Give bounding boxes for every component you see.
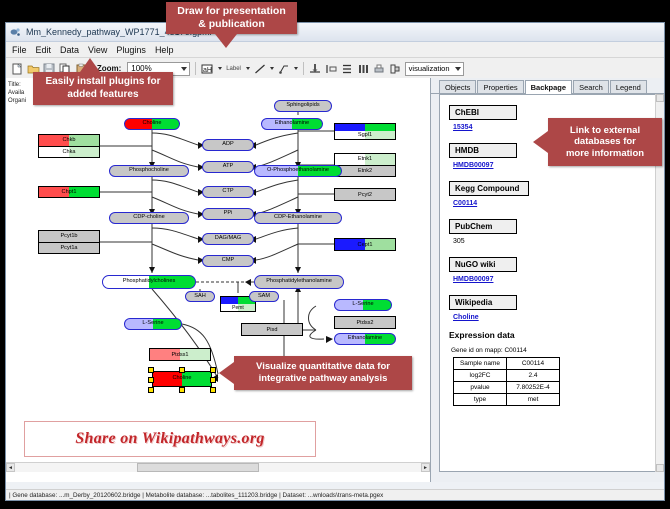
svg-text:aH: aH — [203, 67, 212, 74]
callout-draw-arrow-icon — [215, 34, 237, 48]
node-label: Phosphatidylethanolamine — [266, 279, 332, 285]
node-atp[interactable]: ATP — [202, 161, 254, 173]
gene-id-line: Gene id on mapp: C00114 — [451, 347, 646, 354]
cell-key: pvalue — [454, 382, 507, 394]
side-panel-tabs: Objects Properties Backpage Search Legen… — [431, 78, 664, 94]
scroll-down-icon[interactable] — [656, 464, 664, 472]
expression-data-title: Expression data — [449, 330, 646, 340]
node-label: ADP — [222, 142, 234, 148]
tab-backpage[interactable]: Backpage — [525, 80, 572, 94]
menu-data[interactable]: Data — [60, 45, 79, 55]
tab-search[interactable]: Search — [573, 80, 609, 93]
gene-label: Etnk1 — [358, 156, 372, 162]
link-wikipedia[interactable]: Choline — [453, 314, 646, 321]
menu-help[interactable]: Help — [155, 45, 174, 55]
link-kegg[interactable]: C00114 — [453, 200, 646, 207]
cell-key: Sample name — [454, 358, 507, 370]
line-icon[interactable] — [253, 61, 266, 76]
callout-plugins: Easily install plugins for added feature… — [33, 72, 173, 105]
node-o-phosphoethanolamine[interactable]: O-Phosphoethanolamine — [254, 165, 342, 177]
selection-handle-s[interactable] — [179, 387, 185, 393]
node-ctp[interactable]: CTP — [202, 186, 254, 198]
visualization-select[interactable]: visualization — [405, 62, 464, 76]
node-label: Ethanolamine — [275, 121, 309, 127]
node-label: Choline — [143, 121, 162, 127]
selection-handle-nw[interactable] — [148, 367, 154, 373]
value-pubchem: 305 — [453, 238, 646, 245]
gene-label: Chka — [62, 149, 75, 155]
menu-edit[interactable]: Edit — [36, 45, 52, 55]
status-bar: | Gene database: ...m_Derby_20120602.bri… — [6, 489, 664, 500]
gene-label: Pemt — [232, 305, 244, 311]
stack-icon[interactable] — [341, 61, 354, 76]
selection-handle-ne[interactable] — [210, 367, 216, 373]
table-row: log2FC 2.4 — [454, 370, 560, 382]
node-choline-selected[interactable]: Choline — [152, 371, 212, 387]
scroll-right-icon[interactable]: ► — [421, 463, 430, 472]
menu-bar: File Edit Data View Plugins Help — [6, 42, 664, 58]
gene-box-etnk1-etnk2[interactable]: Etnk1 Etnk2 — [334, 153, 396, 177]
node-label: L-Serine — [142, 321, 163, 327]
hscroll-thumb[interactable] — [137, 463, 259, 472]
label-dropdown-icon[interactable] — [246, 67, 250, 70]
node-sah[interactable]: SAH — [185, 291, 215, 302]
title-bar: Mm_Kennedy_pathway_WP1771_45176.gpml — [6, 23, 664, 42]
gene-label: Pcyt2 — [358, 192, 372, 198]
gene-label: Pcyt1a — [60, 245, 77, 251]
selection-handle-n[interactable] — [179, 367, 185, 373]
print-icon[interactable] — [373, 61, 386, 76]
node-phosphatidylethanolamine[interactable]: Phosphatidylethanolamine — [254, 275, 344, 289]
node-label: PPi — [224, 211, 233, 217]
section-heading-pubchem: PubChem — [449, 219, 517, 234]
gene-box-pisd[interactable]: Pisd — [241, 323, 303, 336]
gene-box-sgpl1[interactable]: Sgpl1 — [334, 123, 396, 140]
expression-data-table: Sample name C00114 log2FC 2.4 pvalue 7.8… — [453, 357, 560, 406]
node-ethanolamine-right[interactable]: Ethanolamine — [334, 333, 396, 345]
menu-file[interactable]: File — [12, 45, 27, 55]
hscroll-track[interactable] — [15, 463, 421, 472]
callout-draw: Draw for presentation & publication — [166, 2, 297, 34]
node-sphingolipids[interactable]: Sphingolipids — [274, 100, 332, 112]
node-phosphatidylcholines[interactable]: Phosphatidylcholines — [102, 275, 196, 289]
toolbar-separator — [195, 62, 196, 75]
node-sam[interactable]: SAM — [249, 291, 279, 302]
gene-label: Chpt1 — [62, 189, 77, 195]
gene-label: Sgpl1 — [358, 132, 372, 138]
datanode-icon[interactable]: aH — [201, 61, 214, 76]
gene-label: Chkb — [62, 137, 75, 143]
node-label: Sphingolipids — [286, 103, 319, 109]
datanode-dropdown-icon[interactable] — [218, 67, 222, 70]
cell-value: met — [507, 394, 560, 406]
gene-label: Ptdss1 — [171, 352, 188, 358]
table-row: Sample name C00114 — [454, 358, 560, 370]
node-label: Ethanolamine — [348, 336, 382, 342]
table-row: pvalue 7.80252E-4 — [454, 382, 560, 394]
node-label: CMP — [222, 258, 234, 264]
z-order-icon[interactable] — [389, 61, 402, 76]
selection-handle-sw[interactable] — [148, 387, 154, 393]
align-left-icon[interactable] — [325, 61, 338, 76]
node-label: CTP — [222, 189, 233, 195]
cell-value: C00114 — [507, 358, 560, 370]
new-icon[interactable] — [11, 61, 24, 76]
cell-key: log2FC — [454, 370, 507, 382]
node-label: Phosphocholine — [129, 168, 169, 174]
node-choline-top[interactable]: Choline — [124, 118, 180, 130]
node-l-serine-right[interactable]: L-Serine — [334, 299, 392, 311]
node-dagmag[interactable]: DAG/MAG — [202, 233, 254, 245]
cell-value: 2.4 — [507, 370, 560, 382]
interaction-dropdown-icon[interactable] — [294, 67, 298, 70]
gene-box-chkb-chka[interactable]: Chkb Chka — [38, 134, 100, 158]
menu-view[interactable]: View — [88, 45, 107, 55]
status-text: | Gene database: ...m_Derby_20120602.bri… — [6, 492, 383, 499]
node-cdp-ethanolamine[interactable]: CDP-Ethanolamine — [254, 212, 342, 224]
callout-share: Share on Wikipathways.org — [24, 421, 316, 457]
canvas-hscrollbar[interactable]: ◄ ► — [6, 462, 430, 472]
node-label: Phosphatidylcholines — [123, 279, 176, 285]
node-label: SAM — [258, 294, 270, 300]
gene-box-ptdss1[interactable]: Ptdss1 — [149, 348, 211, 361]
cell-value: 7.80252E-4 — [507, 382, 560, 394]
tab-legend[interactable]: Legend — [610, 80, 647, 93]
scroll-up-icon[interactable] — [656, 94, 664, 102]
node-cmp[interactable]: CMP — [202, 255, 254, 267]
link-nugo[interactable]: HMDB00097 — [453, 276, 646, 283]
node-cdp-choline[interactable]: CDP-choline — [109, 212, 189, 224]
cell-key: type — [454, 394, 507, 406]
gene-label: Pcyt1b — [60, 233, 77, 239]
node-label: ATP — [223, 164, 233, 170]
node-ethanolamine-top[interactable]: Ethanolamine — [261, 118, 323, 130]
chevron-down-icon — [455, 67, 461, 71]
align-bottom-icon[interactable] — [309, 61, 322, 76]
meta-title: Title: — [8, 82, 21, 88]
chevron-down-icon — [181, 67, 187, 71]
callout-links: Link to external databases for more info… — [548, 118, 662, 166]
app-icon — [10, 27, 21, 38]
section-heading-wikipedia: Wikipedia — [449, 295, 517, 310]
node-label: DAG/MAG — [215, 236, 241, 242]
meta-availability: Availa — [8, 90, 24, 96]
node-adp[interactable]: ADP — [202, 139, 254, 151]
gene-box-ptdss2[interactable]: Ptdss2 — [334, 316, 396, 329]
meta-organism: Organi — [8, 98, 26, 104]
callout-visualize-arrow-icon — [219, 362, 234, 384]
scroll-left-icon[interactable]: ◄ — [6, 463, 15, 472]
node-ppi[interactable]: PPi — [202, 208, 254, 220]
selection-handle-w[interactable] — [148, 377, 154, 383]
gene-box-pcyt2[interactable]: Pcyt2 — [334, 188, 396, 201]
selection-handle-e[interactable] — [210, 377, 216, 383]
section-heading-chebi: ChEBI — [449, 105, 517, 120]
distribute-icon[interactable] — [357, 61, 370, 76]
table-row: type met — [454, 394, 560, 406]
interaction-icon[interactable] — [277, 61, 290, 76]
callout-plugins-arrow-icon — [80, 58, 100, 72]
tab-properties[interactable]: Properties — [477, 80, 523, 93]
line-dropdown-icon[interactable] — [270, 67, 274, 70]
selection-handle-se[interactable] — [210, 387, 216, 393]
section-heading-hmdb: HMDB — [449, 143, 517, 158]
node-label: CDP-choline — [133, 215, 164, 221]
node-label: SAH — [194, 294, 206, 300]
section-heading-nugo: NuGO wiki — [449, 257, 517, 272]
section-heading-kegg: Kegg Compound — [449, 181, 529, 196]
gene-box-pcyt1b-pcyt1a[interactable]: Pcyt1b Pcyt1a — [38, 230, 100, 254]
callout-links-arrow-icon — [533, 131, 548, 153]
gene-label: Pisd — [267, 327, 278, 333]
gene-label: Cept1 — [358, 242, 373, 248]
gene-label: Etnk2 — [358, 168, 372, 174]
tab-objects[interactable]: Objects — [439, 80, 476, 93]
node-label: O-Phosphoethanolamine — [267, 168, 329, 174]
gene-box-cept1[interactable]: Cept1 — [334, 238, 396, 251]
visualization-value: visualization — [409, 64, 450, 73]
node-label: CDP-Ethanolamine — [274, 215, 322, 221]
menu-plugins[interactable]: Plugins — [116, 45, 146, 55]
node-label: Choline — [173, 376, 192, 382]
gene-box-chpt1[interactable]: Chpt1 — [38, 186, 100, 198]
gene-label: Ptdss2 — [356, 320, 373, 326]
toolbar-separator — [303, 62, 304, 75]
callout-visualize: Visualize quantitative data for integrat… — [234, 356, 412, 390]
label-icon[interactable]: Label — [225, 61, 242, 76]
share-text: Share on Wikipathways.org — [75, 430, 264, 448]
node-label: L-Serine — [352, 302, 373, 308]
node-phosphocholine[interactable]: Phosphocholine — [109, 165, 189, 177]
node-l-serine-left[interactable]: L-Serine — [124, 318, 182, 330]
